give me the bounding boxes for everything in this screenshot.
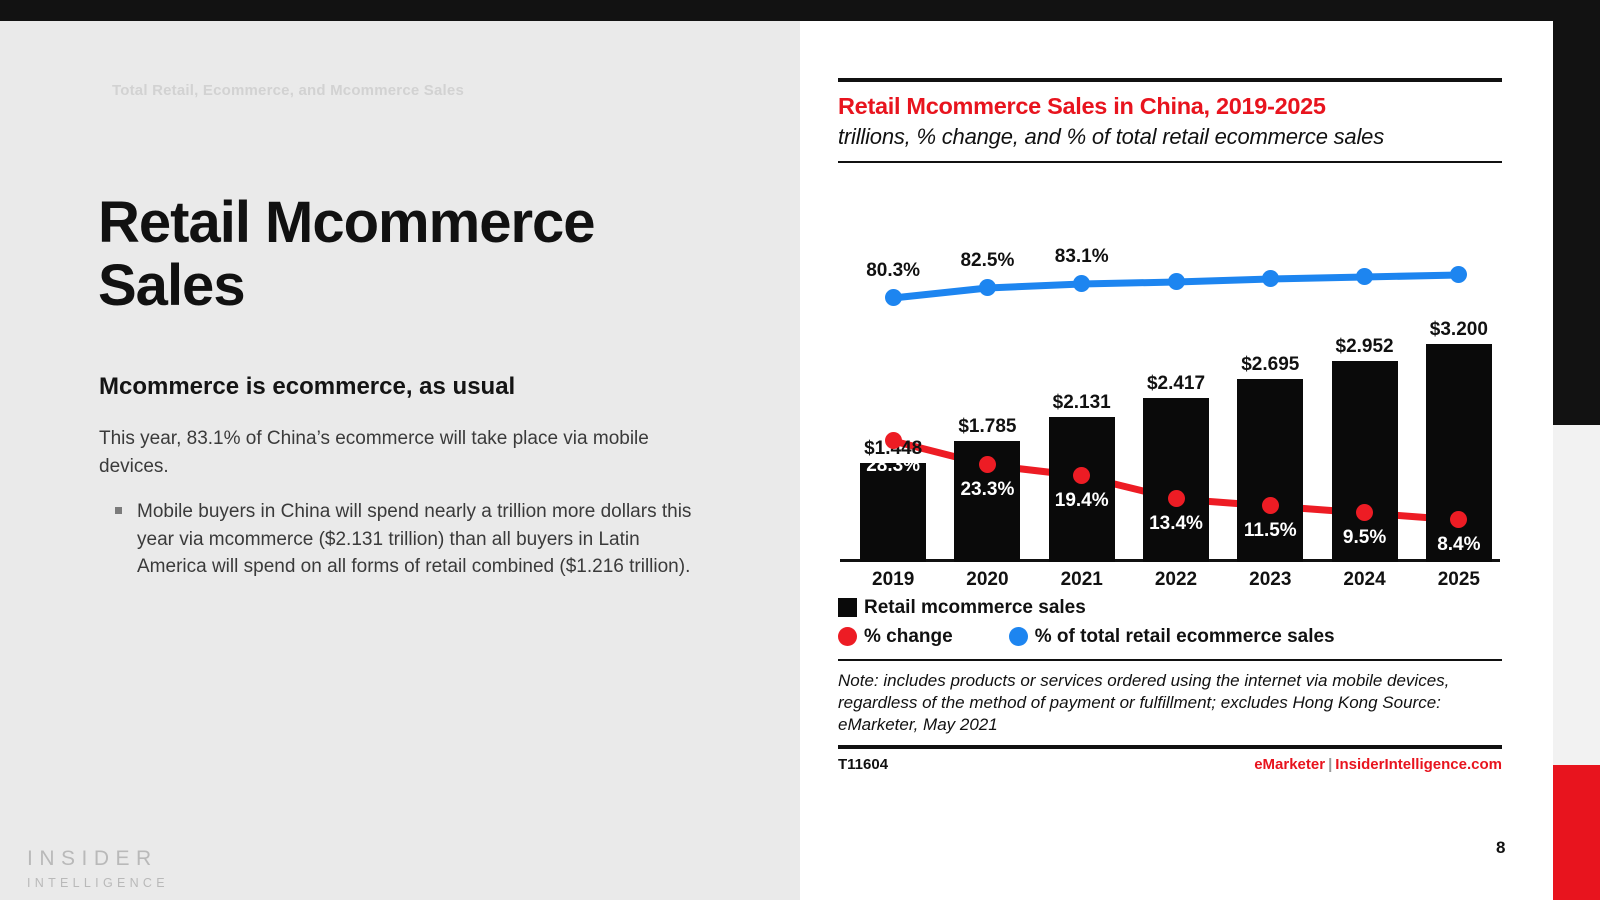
chart-card: Retail Mcommerce Sales in China, 2019-20… — [838, 78, 1502, 773]
bullet-list: Mobile buyers in China will spend nearly… — [99, 498, 709, 589]
data-point-blue — [979, 279, 996, 296]
data-label-blue: 83.1% — [1027, 246, 1137, 268]
bar — [1426, 344, 1492, 561]
section-kicker: Total Retail, Ecommerce, and Mcommerce S… — [112, 82, 464, 99]
legend-row-1: Retail mcommerce sales — [838, 597, 1502, 619]
edge-strip-gray — [1553, 425, 1600, 765]
list-item: Mobile buyers in China will spend nearly… — [99, 498, 709, 581]
table-id: T11604 — [838, 756, 888, 773]
chart-note: Note: includes products or services orde… — [838, 670, 1502, 736]
card-rule-above-note — [838, 659, 1502, 661]
card-footer: T11604 eMarketer|InsiderIntelligence.com — [838, 756, 1502, 773]
legend-label: Retail mcommerce sales — [864, 597, 1086, 619]
card-top-rule — [838, 78, 1502, 82]
card-rule-below-note — [838, 745, 1502, 749]
logo-line-1: INSIDER — [27, 847, 169, 871]
edge-strip-red — [1553, 765, 1600, 900]
logo-line-2: INTELLIGENCE — [27, 876, 169, 890]
edge-strip-black — [1553, 21, 1600, 425]
bar — [860, 463, 926, 561]
page-title: Retail Mcommerce Sales — [98, 191, 738, 317]
data-point-blue — [1262, 270, 1279, 287]
bar-value-label: $3.200 — [1404, 319, 1514, 341]
chart-subtitle: trillions, % change, and % of total reta… — [838, 123, 1502, 151]
legend-label: % of total retail ecommerce sales — [1035, 626, 1335, 648]
card-rule-under-title — [838, 161, 1502, 163]
x-axis-tick-label: 2025 — [1404, 569, 1514, 591]
brand-insiderintelligence[interactable]: InsiderIntelligence.com — [1335, 756, 1502, 773]
legend-row-2: % change % of total retail ecommerce sal… — [838, 626, 1502, 648]
bar — [1143, 398, 1209, 562]
data-point-blue — [1168, 273, 1185, 290]
bar-value-label: $1.785 — [932, 416, 1042, 438]
list-item-text: Mobile buyers in China will spend nearly… — [137, 501, 691, 577]
slide: Total Retail, Ecommerce, and Mcommerce S… — [0, 0, 1600, 900]
insider-intelligence-logo: INSIDER INTELLIGENCE — [27, 847, 169, 890]
body-paragraph: This year, 83.1% of China’s ecommerce wi… — [99, 425, 689, 480]
data-label-blue: 84.5% — [1404, 289, 1514, 311]
bar-value-label: $2.417 — [1121, 373, 1231, 395]
brand-credit: eMarketer|InsiderIntelligence.com — [1254, 756, 1502, 773]
legend-label: % change — [864, 626, 953, 648]
brand-separator: | — [1325, 756, 1335, 773]
legend-item-bars: Retail mcommerce sales — [838, 597, 1086, 619]
chart-plot-area: $1.4482019$1.7852020$2.1312021$2.4172022… — [838, 173, 1502, 593]
data-point-red — [1168, 490, 1185, 507]
legend-circle-red-icon — [838, 627, 857, 646]
data-point-red — [979, 456, 996, 473]
legend-square-icon — [838, 598, 857, 617]
legend-circle-blue-icon — [1009, 627, 1028, 646]
chart-legend: Retail mcommerce sales % change % of tot… — [838, 597, 1502, 648]
bar-value-label: $2.131 — [1027, 392, 1137, 414]
data-label-red: 8.4% — [1404, 534, 1514, 556]
brand-emarketer: eMarketer — [1254, 756, 1325, 773]
legend-item-pct-of-total: % of total retail ecommerce sales — [1009, 626, 1335, 648]
left-panel: Total Retail, Ecommerce, and Mcommerce S… — [0, 21, 800, 900]
data-point-red — [885, 432, 902, 449]
subheading: Mcommerce is ecommerce, as usual — [99, 373, 739, 401]
bullet-square-icon — [115, 507, 122, 514]
data-point-blue — [885, 289, 902, 306]
legend-item-pct-change: % change — [838, 626, 953, 648]
data-label-red: 28.3% — [838, 455, 948, 477]
data-label-red: 19.4% — [1027, 490, 1137, 512]
page-number: 8 — [1496, 838, 1505, 858]
data-point-red — [1262, 497, 1279, 514]
chart-title: Retail Mcommerce Sales in China, 2019-20… — [838, 93, 1502, 120]
top-black-bar — [0, 0, 1600, 21]
